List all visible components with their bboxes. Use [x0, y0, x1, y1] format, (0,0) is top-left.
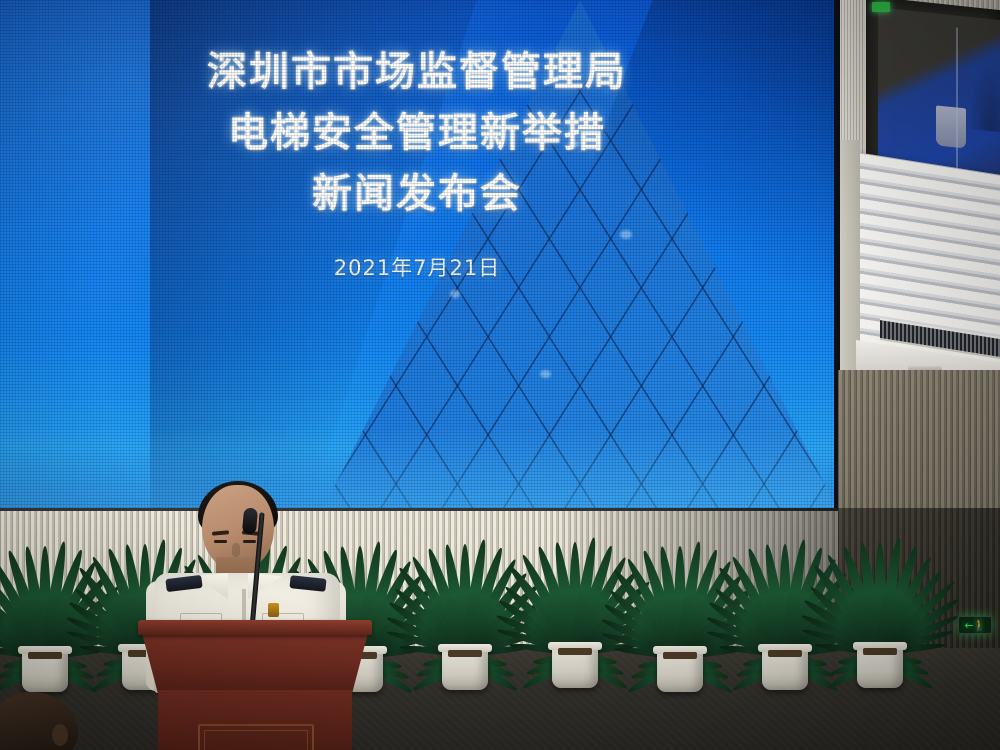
speaker-nose [232, 543, 240, 557]
window-mullion [956, 27, 958, 187]
plant-leaves [810, 522, 950, 652]
glass-sparkle [540, 370, 551, 378]
emergency-exit-sign: ←🚶 [958, 616, 992, 634]
plant-soil [663, 652, 697, 659]
plant-pot [22, 650, 68, 692]
window-reflection-pot [936, 105, 966, 148]
audience-member-ear [52, 724, 68, 746]
speaker-uniform-badge [268, 603, 279, 617]
glass-sparkle [620, 230, 632, 239]
speaker-eye-left [214, 540, 227, 543]
plant-soil [448, 650, 482, 657]
glass-sparkle [450, 290, 460, 298]
glass-sparkle [568, 140, 579, 148]
glass-sparkle [400, 180, 409, 187]
plant-soil [558, 648, 592, 655]
plant-pot [857, 646, 903, 688]
window-reflection-plant [968, 59, 1000, 134]
glass-sparkle [480, 80, 493, 89]
louver-edge-mask [838, 140, 860, 370]
led-screen: 深圳市市场监督管理局 电梯安全管理新举措 新闻发布会 2021年7月21日 [0, 0, 834, 508]
exit-running-person-icon: ←🚶 [965, 620, 986, 631]
plant-pot [762, 648, 808, 690]
plant-pot [657, 650, 703, 692]
plant-pot [442, 648, 488, 690]
screen-ground-glow [0, 428, 834, 508]
plant-soil [863, 648, 897, 655]
podium-front-panel [198, 724, 314, 750]
speaker-eye-right [243, 540, 256, 543]
plant-soil [28, 652, 62, 659]
plant-pot [552, 646, 598, 688]
press-conference-photo: 深圳市市场监督管理局 电梯安全管理新举措 新闻发布会 2021年7月21日 ←🚶 [0, 0, 1000, 750]
plant-soil [768, 650, 802, 657]
podium [142, 620, 368, 750]
podium-top-surface [138, 620, 372, 635]
potted-plant [810, 513, 950, 688]
podium-body [142, 633, 368, 693]
indicator-light-icon [872, 2, 890, 12]
